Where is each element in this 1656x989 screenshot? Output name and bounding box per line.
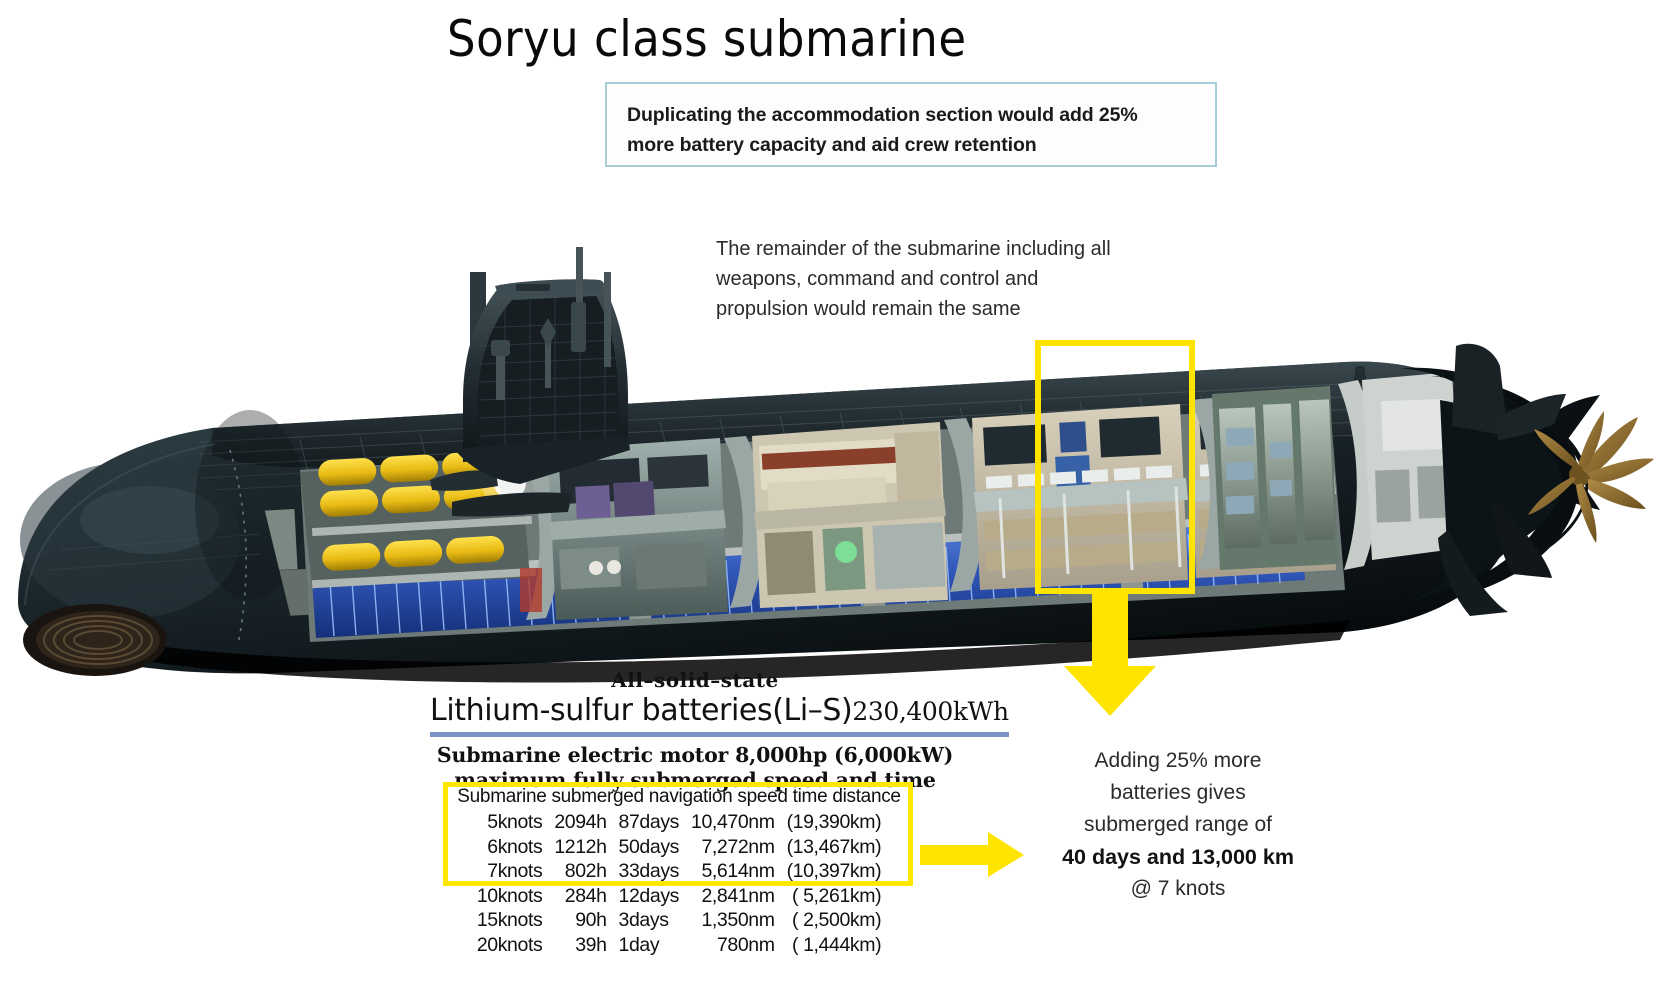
cell-days: 12days (613, 884, 685, 909)
cell-distance-km: ( 1,444km) (781, 933, 888, 958)
cell-speed: 10knots (471, 884, 549, 909)
cell-speed: 7knots (471, 859, 549, 884)
cell-days: 87days (613, 810, 685, 835)
conclusion-line-1: Adding 25% more (1028, 745, 1328, 777)
cell-distance-nm: 10,470nm (685, 810, 781, 835)
cell-speed: 15knots (471, 908, 549, 933)
submarine-cutaway-illustration (0, 150, 1656, 690)
cell-distance-km: (13,467km) (781, 835, 888, 860)
lithium-sulfur-title-text: Lithium-sulfur batteries(Li–S) (430, 693, 852, 728)
cell-speed: 6knots (471, 835, 549, 860)
cell-distance-nm: 2,841nm (685, 884, 781, 909)
cell-days: 50days (613, 835, 685, 860)
down-arrow-icon (1062, 594, 1158, 718)
table-row: 6knots 1212h 50days 7,272nm (13,467km) (471, 835, 887, 860)
battery-spec-block: All–solid–state Lithium-sulfur batteries… (430, 668, 960, 793)
cell-distance-nm: 5,614nm (685, 859, 781, 884)
cell-hours: 2094h (548, 810, 612, 835)
cell-days: 3days (613, 908, 685, 933)
table-row: 7knots 802h 33days 5,614nm (10,397km) (471, 859, 887, 884)
cell-hours: 39h (548, 933, 612, 958)
table-row: 15knots 90h 3days 1,350nm ( 2,500km) (471, 908, 887, 933)
cell-distance-nm: 7,272nm (685, 835, 781, 860)
callout-line-2: more battery capacity and aid crew reten… (627, 130, 1195, 160)
cell-distance-km: ( 2,500km) (781, 908, 888, 933)
conclusion-line-3: submerged range of (1028, 809, 1328, 841)
table-row: 5knots 2094h 87days 10,470nm (19,390km) (471, 810, 887, 835)
lithium-sulfur-title: Lithium-sulfur batteries(Li–S)230,400kWh (430, 692, 1009, 737)
cell-hours: 1212h (548, 835, 612, 860)
nav-table-title: Submarine submerged navigation speed tim… (444, 784, 914, 810)
right-arrow-icon (920, 832, 1025, 878)
cell-speed: 20knots (471, 933, 549, 958)
cell-distance-km: (10,397km) (781, 859, 888, 884)
cell-distance-nm: 1,350nm (685, 908, 781, 933)
cell-hours: 284h (548, 884, 612, 909)
galley-mess-section (752, 422, 948, 608)
page-title: Soryu class submarine (447, 10, 967, 68)
nav-table: 5knots 2094h 87days 10,470nm (19,390km) … (471, 810, 887, 957)
callout-line-1: Duplicating the accommodation section wo… (627, 100, 1195, 130)
remainder-note: The remainder of the submarine including… (716, 234, 1146, 324)
cell-hours: 802h (548, 859, 612, 884)
accommodation-section-highlight-rect (1035, 340, 1195, 594)
table-row: 20knots 39h 1day 780nm ( 1,444km) (471, 933, 887, 958)
antenna-mast (604, 272, 611, 367)
remainder-line-1: The remainder of the submarine including… (716, 234, 1146, 264)
conclusion-line-4: 40 days and 13,000 km (1028, 841, 1328, 873)
conclusion-line-5: @ 7 knots (1028, 873, 1328, 905)
torpedo-tube-array (23, 604, 167, 676)
table-row: 10knots 284h 12days 2,841nm ( 5,261km) (471, 884, 887, 909)
cell-days: 1day (613, 933, 685, 958)
remainder-line-3: propulsion would remain the same (716, 294, 1146, 324)
battery-capacity-value: 230,400kWh (852, 697, 1008, 726)
cell-hours: 90h (548, 908, 612, 933)
conclusion-line-2: batteries gives (1028, 777, 1328, 809)
accommodation-callout-box: Duplicating the accommodation section wo… (605, 82, 1217, 167)
cell-distance-km: (19,390km) (781, 810, 888, 835)
submerged-navigation-table: Submarine submerged navigation speed tim… (444, 784, 914, 957)
cell-distance-km: ( 5,261km) (781, 884, 888, 909)
conclusion-note: Adding 25% more batteries gives submerge… (1028, 745, 1328, 905)
snorkel-mast (496, 350, 505, 400)
cell-speed: 5knots (471, 810, 549, 835)
remainder-line-2: weapons, command and control and (716, 264, 1146, 294)
cell-distance-nm: 780nm (685, 933, 781, 958)
all-solid-state-label: All–solid–state (430, 668, 960, 692)
cell-days: 33days (613, 859, 685, 884)
infographic-canvas: Soryu class submarine Duplicating the ac… (0, 0, 1656, 989)
motor-line-1: Submarine electric motor 8,000hp (6,000k… (430, 743, 960, 768)
periscope-mast (576, 247, 583, 302)
